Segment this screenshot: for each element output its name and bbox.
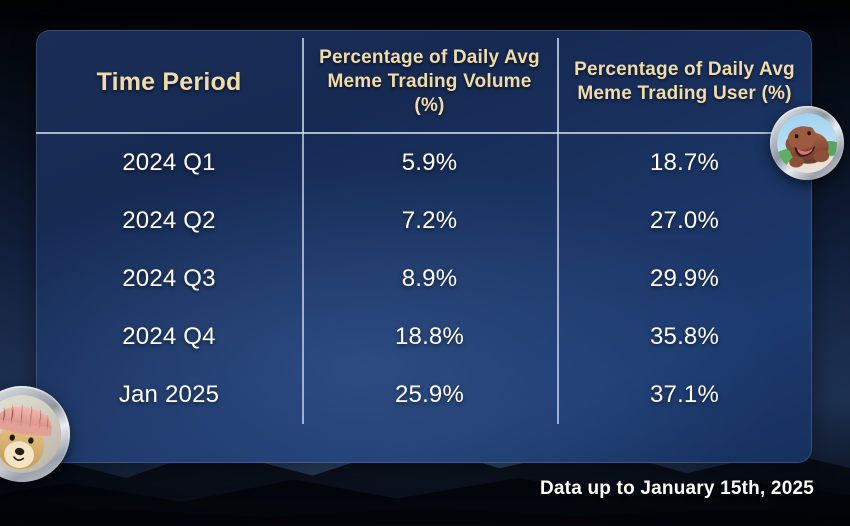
cell-user-pct: 29.9% [557,250,812,308]
table-row: 2024 Q4 18.8% 35.8% [36,308,812,366]
column-header-volume-pct: Percentage of Daily Avg Meme Trading Vol… [302,30,557,134]
table-row: Jan 2025 25.9% 37.1% [36,366,812,424]
cell-volume-pct: 7.2% [302,192,557,250]
column-header-user-pct: Percentage of Daily Avg Meme Trading Use… [557,30,812,134]
hippo-coin-face [773,109,842,178]
cell-volume-pct: 25.9% [302,366,557,424]
table-row: 2024 Q3 8.9% 29.9% [36,250,812,308]
table-header-row: Time Period Percentage of Daily Avg Meme… [36,30,812,134]
cell-time-period: 2024 Q3 [36,250,302,308]
cell-time-period: 2024 Q1 [36,134,302,192]
cell-time-period: 2024 Q4 [36,308,302,366]
cell-volume-pct: 18.8% [302,308,557,366]
cell-user-pct: 27.0% [557,192,812,250]
cell-time-period: 2024 Q2 [36,192,302,250]
data-table: Time Period Percentage of Daily Avg Meme… [36,30,812,463]
table-body: 2024 Q1 5.9% 18.7% 2024 Q2 7.2% 27.0% 20… [36,134,812,424]
cell-time-period: Jan 2025 [36,366,302,424]
cell-user-pct: 35.8% [557,308,812,366]
dog-coin-face [0,389,67,479]
top-shade [0,0,850,34]
infographic-stage: Time Period Percentage of Daily Avg Meme… [0,0,850,526]
cell-volume-pct: 5.9% [302,134,557,192]
column-header-time-period: Time Period [36,30,302,134]
footnote-data-date: Data up to January 15th, 2025 [540,478,814,500]
cell-user-pct: 37.1% [557,366,812,424]
table-row: 2024 Q1 5.9% 18.7% [36,134,812,192]
cell-volume-pct: 8.9% [302,250,557,308]
table-row: 2024 Q2 7.2% 27.0% [36,192,812,250]
